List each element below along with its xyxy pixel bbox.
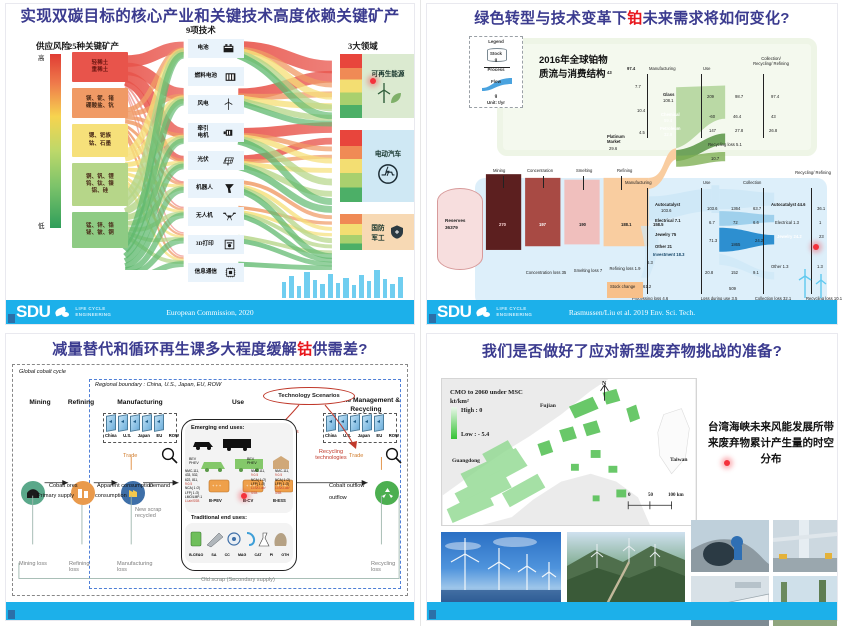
platinum-sankey-figure: Legend Stock g Process Flow g Unit: t/yr… xyxy=(431,30,833,298)
flow-cobalt-outflow: Cobalt outflow xyxy=(329,483,364,489)
blue-stage-collection: Collection xyxy=(743,180,761,185)
concentration-loss: Concentration loss 35 xyxy=(525,270,567,275)
blue-auto-collected: 63.7 xyxy=(753,206,761,211)
trad-label-2: CC xyxy=(225,553,230,557)
blue-use-tick xyxy=(701,188,702,294)
green-small-flow-2: 4.5 xyxy=(639,130,645,135)
slide-2-citation: Rasmussen/Liu et al. 2019 Env. Sci. Tech… xyxy=(427,308,837,317)
map-legend-ramp xyxy=(451,407,457,439)
smelting-value: 190 xyxy=(579,222,586,227)
page-marker xyxy=(429,610,436,619)
map-place-fujian: Fujian xyxy=(540,403,556,409)
slide-3-title-suffix: 供需差? xyxy=(312,341,367,358)
green-node-chemical-value: 59.4 xyxy=(664,118,672,123)
green-mfg-tick xyxy=(647,74,648,138)
tech-node-4-label: 光伏 xyxy=(197,157,208,164)
bev-phev-label-2: BEV PHEV xyxy=(247,457,261,465)
concentration-tick xyxy=(543,176,544,188)
flow-primary-supply: Primary supply xyxy=(37,493,74,499)
svg-text:+ + +: + + + xyxy=(212,483,222,488)
green-small-flow-0: 7.7 xyxy=(635,84,641,89)
trad-label-6: OTH xyxy=(281,553,289,557)
tech-node-2-label: 风电 xyxy=(197,101,208,108)
sector-node-2-label: 国防 军工 xyxy=(371,222,384,242)
green-stage-collection: Collection/ Recycling/ Refining xyxy=(751,56,791,66)
slide-2-title: 绿色转型与技术变革下铂未来需求将如何变化? xyxy=(427,4,837,28)
platinum-market-label: Platinum Market xyxy=(607,134,639,144)
map-legend-title: CMO to 2060 under MSC xyxy=(450,389,523,396)
blue-elec-use: 72 xyxy=(733,220,738,225)
sector-2-risk-strip xyxy=(340,214,362,250)
slide-2-footer: SDU LIFE CYCLE ENGINEERING Rasmussen/Liu… xyxy=(427,300,837,324)
green-node-glass: Glass xyxy=(663,92,674,97)
slide-grid: 实现双碳目标的核心产业和关键技术高度依赖关键矿产 xyxy=(0,0,843,626)
defence-shield-icon xyxy=(389,223,405,241)
blue-jewel-recycled: 23 xyxy=(819,234,824,239)
flow-cobalt-ores: Cobalt ores xyxy=(49,483,78,489)
magnifier-icon[interactable] xyxy=(161,447,179,465)
traction-motor-icon xyxy=(222,126,235,139)
trad-label-5: PI xyxy=(270,553,273,557)
sector-0-body: 可再生能源 xyxy=(362,54,414,118)
blue-auto-mfg: 103.6 xyxy=(707,206,717,211)
slide-platinum-flows[interactable]: 绿色转型与技术变革下铂未来需求将如何变化? Legend Stock g Pro… xyxy=(421,0,843,330)
col-header-risk: 供应风险 xyxy=(36,40,70,52)
stock-change-label: Stock change xyxy=(610,284,635,289)
trad-label-3: MAG xyxy=(238,553,246,557)
blue-auto-use: 1364 xyxy=(731,206,740,211)
tech-node-0[interactable]: 电池 xyxy=(188,39,244,58)
green-into-branch: 29.6 xyxy=(609,146,617,151)
map-north-arrow-label: N xyxy=(602,381,606,387)
slide-1-canvas: 实现双碳目标的核心产业和关键技术高度依赖关键矿产 xyxy=(6,4,414,324)
slide-1-footer: SDU LIFE CYCLE ENGINEERING European Comm… xyxy=(6,300,414,324)
drone-icon xyxy=(223,210,236,223)
renewable-energy-icon xyxy=(373,81,403,105)
magnifier-icon[interactable] xyxy=(385,447,403,465)
laser-pointer-dot xyxy=(241,493,247,499)
battery-icon xyxy=(222,42,235,55)
green-glass-collected: 98.7 xyxy=(735,94,743,99)
slide-2-canvas: 绿色转型与技术变革下铂未来需求将如何变化? Legend Stock g Pro… xyxy=(427,4,837,324)
loss-refining: Refining loss xyxy=(69,561,99,573)
slide-1-title: 实现双碳目标的核心产业和关键技术高度依赖关键矿产 xyxy=(6,4,414,25)
offshore-wind-farm-photo xyxy=(441,532,561,612)
traditional-uses-title: Traditional end uses: xyxy=(191,515,247,521)
flow-cobalt-outflow-2: outflow xyxy=(329,495,347,501)
solar-panel-icon xyxy=(222,154,235,167)
sector-node-0-label: 可再生能源 xyxy=(372,68,405,78)
flow-apparent-2: consumption xyxy=(95,493,127,499)
slide-3-title-highlight: 钴 xyxy=(297,341,312,358)
blue-node-autocatalyst: Autocatalyst xyxy=(655,202,680,207)
refining-value: 188.1 xyxy=(621,222,631,227)
slide-3-footer xyxy=(6,602,414,620)
trad-label-4: CAT xyxy=(254,553,261,557)
blue-other-collected: 9.1 xyxy=(753,270,759,275)
robot-arm-icon xyxy=(223,182,236,195)
stage-smelting: Smelting xyxy=(576,168,592,173)
vehicle-silhouettes xyxy=(189,433,289,451)
stage-concentration: Concentration xyxy=(527,168,553,173)
bev-phev-label-1: BEV PHEV xyxy=(189,457,203,465)
trad-label-1: SA xyxy=(211,553,216,557)
traditional-use-icons xyxy=(189,527,289,551)
tech-node-6-label: 无人机 xyxy=(196,213,213,220)
tech-node-3-label: 牵引 电机 xyxy=(197,126,208,139)
mineral-group-4-label: 锰、锌、铬 铋、铍、铜 xyxy=(86,223,114,238)
blue-stage-manufacturing: Manufacturing xyxy=(625,180,652,185)
blue-node-jewelry: Jewelry 75 xyxy=(655,232,676,237)
refining-tick xyxy=(621,176,622,190)
concentration-value: 197 xyxy=(539,222,546,227)
slide-3-canvas: 减量替代和循环再生课多大程度缓解钴供需差? Global cobalt cycl… xyxy=(6,334,414,620)
electric-car-icon xyxy=(377,163,399,185)
flow-trade-left: Trade xyxy=(123,453,137,459)
tech-node-6[interactable]: 无人机 xyxy=(188,207,244,226)
slide-2-title-prefix: 绿色转型与技术变革下 xyxy=(474,10,627,27)
green-node-glass-value: 108.1 xyxy=(663,98,673,103)
sankey-minerals-figure: 供应风险 25种关键矿产 9项技术 3大领域 高 低 轻稀土 重稀土 镁、铌、锗… xyxy=(10,26,410,298)
blue-elec-mfg: 6.7 xyxy=(709,220,715,225)
refining-loss: Refining loss 1.9 xyxy=(609,266,641,271)
mineral-group-1[interactable]: 镁、铌、锗 硼酸盐、钪 xyxy=(72,88,128,118)
tech-node-5[interactable]: 机器人 xyxy=(188,179,244,198)
tech-node-8[interactable]: 信息通信 xyxy=(188,263,244,282)
green-small-flow-3: 43 xyxy=(607,70,612,75)
sector-1-body: 电动汽车 xyxy=(362,130,414,202)
side-flow-63: 6.3 xyxy=(647,260,653,265)
flow-old-scrap: Old scrap (Secondary supply) xyxy=(193,577,283,583)
mining-value: 270 xyxy=(499,222,506,227)
ict-chip-icon xyxy=(224,266,237,279)
green-glass-recycled: 97.4 xyxy=(771,94,779,99)
green-petro-collected: 27.8 xyxy=(735,128,743,133)
sector-0-risk-strip xyxy=(340,54,362,118)
3d-printer-icon xyxy=(223,238,236,251)
stock-change-box: Stock change xyxy=(607,282,643,298)
tech-node-3[interactable]: 牵引 电机 xyxy=(188,123,244,142)
slide-3-title: 减量替代和循环再生课多大程度缓解钴供需差? xyxy=(6,334,414,359)
chemistry-list-2: NMC-111,9:0.5 NCA( 1 /2)LFP( 1 /2) Li-S/… xyxy=(251,469,266,495)
turbine-erection-photo xyxy=(773,520,837,572)
col-header-minerals: 25种关键矿产 xyxy=(68,40,119,52)
blue-jewel-coll-name: Jewelry 24.2 xyxy=(777,234,802,239)
risk-high-label: 高 xyxy=(38,52,45,62)
sector-1-risk-strip xyxy=(340,130,362,202)
traditional-use-labels: B-CE&O SA CC MAG CAT PI OTH xyxy=(185,553,293,557)
flow-trade-right: Trade xyxy=(349,453,363,459)
stage-refining: Refining xyxy=(617,168,632,173)
slide-2-title-highlight: 铂 xyxy=(627,10,642,27)
green-small-flow-4: 97.4 xyxy=(627,66,635,71)
blue-mfg-tick xyxy=(647,188,648,294)
slide-cobalt-cycle[interactable]: 减量替代和循环再生课多大程度缓解钴供需差? Global cobalt cycl… xyxy=(0,330,421,626)
product-label-bess: B-ESS xyxy=(273,498,286,503)
blue-auto-recycled: 36.1 xyxy=(817,206,825,211)
blue-elec-collected: 6.6 xyxy=(753,220,759,225)
mineral-group-2-label: 锶、钯族 钴、石墨 xyxy=(89,133,111,148)
blue-auto-coll-name: Autocatalyst 44.6 xyxy=(771,202,805,207)
green-chemical-use: -60 xyxy=(709,114,715,119)
green-loss-during-use: Recycling loss 5.1 xyxy=(703,142,747,147)
laser-pointer-dot xyxy=(724,460,730,466)
supply-risk-gradient-bar xyxy=(50,54,61,228)
blue-stage-recycling: Recycling/ Refining xyxy=(793,170,833,175)
cmo-map[interactable]: CMO to 2060 under MSC kt/km² High : 0 Lo… xyxy=(441,378,697,526)
green-chemical-collected: 46.4 xyxy=(733,114,741,119)
to-market-value: 158.5 xyxy=(653,222,663,227)
loss-recycling: Recycling loss xyxy=(371,561,405,573)
green-petro-use: 147 xyxy=(709,128,716,133)
page-marker xyxy=(8,610,15,619)
blue-node-other: Other 21 xyxy=(655,244,672,249)
green-use-tick xyxy=(701,74,702,138)
green-stage-use: Use xyxy=(703,66,710,71)
product-label-bpev: B-PEV xyxy=(209,498,222,503)
green-glass-use: 209 xyxy=(707,94,714,99)
emerging-uses-title: Emerging end uses: xyxy=(191,425,244,431)
mineral-group-3-label: 铜、钒、锂 钨、钛、镍 铝、硅 xyxy=(86,174,114,196)
smelting-tick xyxy=(583,176,584,190)
map-legend-unit: kt/km² xyxy=(450,398,469,405)
loss-mining: Mining loss xyxy=(19,561,49,567)
slide-4-title: 我们是否做好了应对新型废弃物挑战的准备? xyxy=(427,334,837,361)
col-header-technologies: 9项技术 xyxy=(186,24,216,36)
map-legend-low: Low : - 5.4 xyxy=(461,431,489,438)
risk-low-label: 低 xyxy=(38,220,45,230)
tech-node-7-label: 3D打印 xyxy=(196,241,214,248)
tech-node-5-label: 机器人 xyxy=(196,185,213,192)
blue-other-mfg: 20.8 xyxy=(705,270,713,275)
map-scale-100: 100 km xyxy=(668,493,684,498)
blue-jewel-use: 1865 xyxy=(731,242,740,247)
blue-elec-recycled: 1 xyxy=(819,220,821,225)
blue-elec-coll-name: Electrical 1.3 xyxy=(775,220,799,225)
blue-node-investment: Investment 18.3 xyxy=(653,252,684,257)
flow-apparent: Apparent consumption xyxy=(97,483,153,489)
map-place-taiwan: Taiwan xyxy=(670,457,688,463)
tech-node-2[interactable]: 风电 xyxy=(188,95,244,114)
map-graphic xyxy=(442,379,696,525)
nacelle-maintenance-photo xyxy=(691,520,769,572)
green-collect-tick xyxy=(763,74,764,138)
tech-node-8-label: 信息通信 xyxy=(195,269,217,276)
col-header-sectors: 3大领域 xyxy=(348,40,378,52)
green-node-petroleum: Petroleum xyxy=(660,126,680,131)
slide-critical-minerals[interactable]: 实现双碳目标的核心产业和关键技术高度依赖关键矿产 xyxy=(0,0,421,330)
loss-manufacturing: Manufacturing loss xyxy=(117,561,157,573)
sector-node-2[interactable]: 国防 军工 xyxy=(340,214,414,250)
blue-jewel-collected: 24.2 xyxy=(755,238,763,243)
flow-new-scrap: New scrap recycled xyxy=(135,507,167,519)
mineral-group-2[interactable]: 锶、钯族 钴、石墨 xyxy=(72,124,128,157)
mountain-wind-farm-photo xyxy=(567,532,685,612)
blue-node-autocatalyst-value: 103.6 xyxy=(661,208,671,213)
tech-node-7[interactable]: 3D打印 xyxy=(188,235,244,254)
green-stage-manufacturing: Manufacturing xyxy=(649,66,676,71)
blue-other-use: 152 xyxy=(731,270,738,275)
laser-pointer-dot xyxy=(813,244,819,250)
wind-decor-icon xyxy=(775,268,835,298)
tech-node-0-label: 电池 xyxy=(197,45,208,52)
mineral-group-0-label: 轻稀土 重稀土 xyxy=(92,60,109,75)
map-scale-0: 0 xyxy=(628,493,631,498)
sector-node-1-label: 电动汽车 xyxy=(375,148,401,158)
mineral-group-3[interactable]: 铜、钒、锂 钨、钛、镍 铝、硅 xyxy=(72,163,128,206)
laser-pointer-dot xyxy=(370,78,376,84)
tech-node-1-label: 燃料电池 xyxy=(195,73,217,80)
chemistry-list-3: NMC-111,9:0.5 NCA( 1 /2)LFP( 1 /2) Li-S/… xyxy=(275,469,290,495)
side-flow-107: 10.7 xyxy=(711,156,719,161)
wind-turbine-icon xyxy=(222,98,235,111)
flow-demand: Demand xyxy=(149,483,170,489)
chemistry-list-1: NMC-111,433, 532, 622, 811,9:0.5 NCA( 1 … xyxy=(185,469,202,504)
slide-4-footer xyxy=(427,602,837,620)
mineral-group-0[interactable]: 轻稀土 重稀土 xyxy=(72,52,128,82)
map-scale-50: 50 xyxy=(648,493,653,498)
side-flow-612: 61.2 xyxy=(643,284,651,289)
slide-1-citation: European Commission, 2020 xyxy=(6,308,414,317)
sector-node-0[interactable]: 可再生能源 xyxy=(340,54,414,118)
green-chemical-recycled: 43 xyxy=(771,114,776,119)
tech-node-4[interactable]: 光伏 xyxy=(188,151,244,170)
slide-4-canvas: 我们是否做好了应对新型废弃物挑战的准备? xyxy=(427,334,837,620)
green-small-flow-1: 10.4 xyxy=(637,108,645,113)
trad-label-0: B-CE&O xyxy=(189,553,203,557)
city-skyline-decor xyxy=(278,268,408,298)
mineral-group-4[interactable]: 锰、锌、铬 铋、铍、铜 xyxy=(72,212,128,248)
slide-2-title-suffix: 未来需求将如何变化? xyxy=(643,10,790,27)
blue-stage-use: Use xyxy=(703,180,710,185)
map-place-guangdong: Guangdong xyxy=(452,458,480,464)
mineral-group-1-label: 镁、铌、锗 硼酸盐、钪 xyxy=(86,96,114,111)
slide-3-title-prefix: 减量替代和循环再生课多大程度缓解 xyxy=(52,341,297,358)
slide-wind-waste[interactable]: 我们是否做好了应对新型废弃物挑战的准备? xyxy=(421,330,843,626)
smelting-loss: Smelting loss 7 xyxy=(571,268,605,273)
map-legend-high: High : 0 xyxy=(461,407,482,414)
sector-node-1[interactable]: 电动汽车 xyxy=(340,130,414,202)
green-node-petroleum-value: 32.9 xyxy=(664,132,672,137)
fuel-cell-icon xyxy=(224,70,237,83)
mining-tick xyxy=(503,176,504,188)
green-petro-recycled: 26.8 xyxy=(769,128,777,133)
green-node-chemical: Chemical xyxy=(661,112,680,117)
blue-jewel-mfg: 71.3 xyxy=(709,238,717,243)
blue-invest-use: 509 xyxy=(729,286,736,291)
cobalt-cycle-figure: Global cobalt cycle Regional boundary : … xyxy=(12,364,408,596)
sector-2-body: 国防 军工 xyxy=(362,214,414,250)
stage-mining: Mining xyxy=(493,168,505,173)
tech-node-1[interactable]: 燃料电池 xyxy=(188,67,244,86)
